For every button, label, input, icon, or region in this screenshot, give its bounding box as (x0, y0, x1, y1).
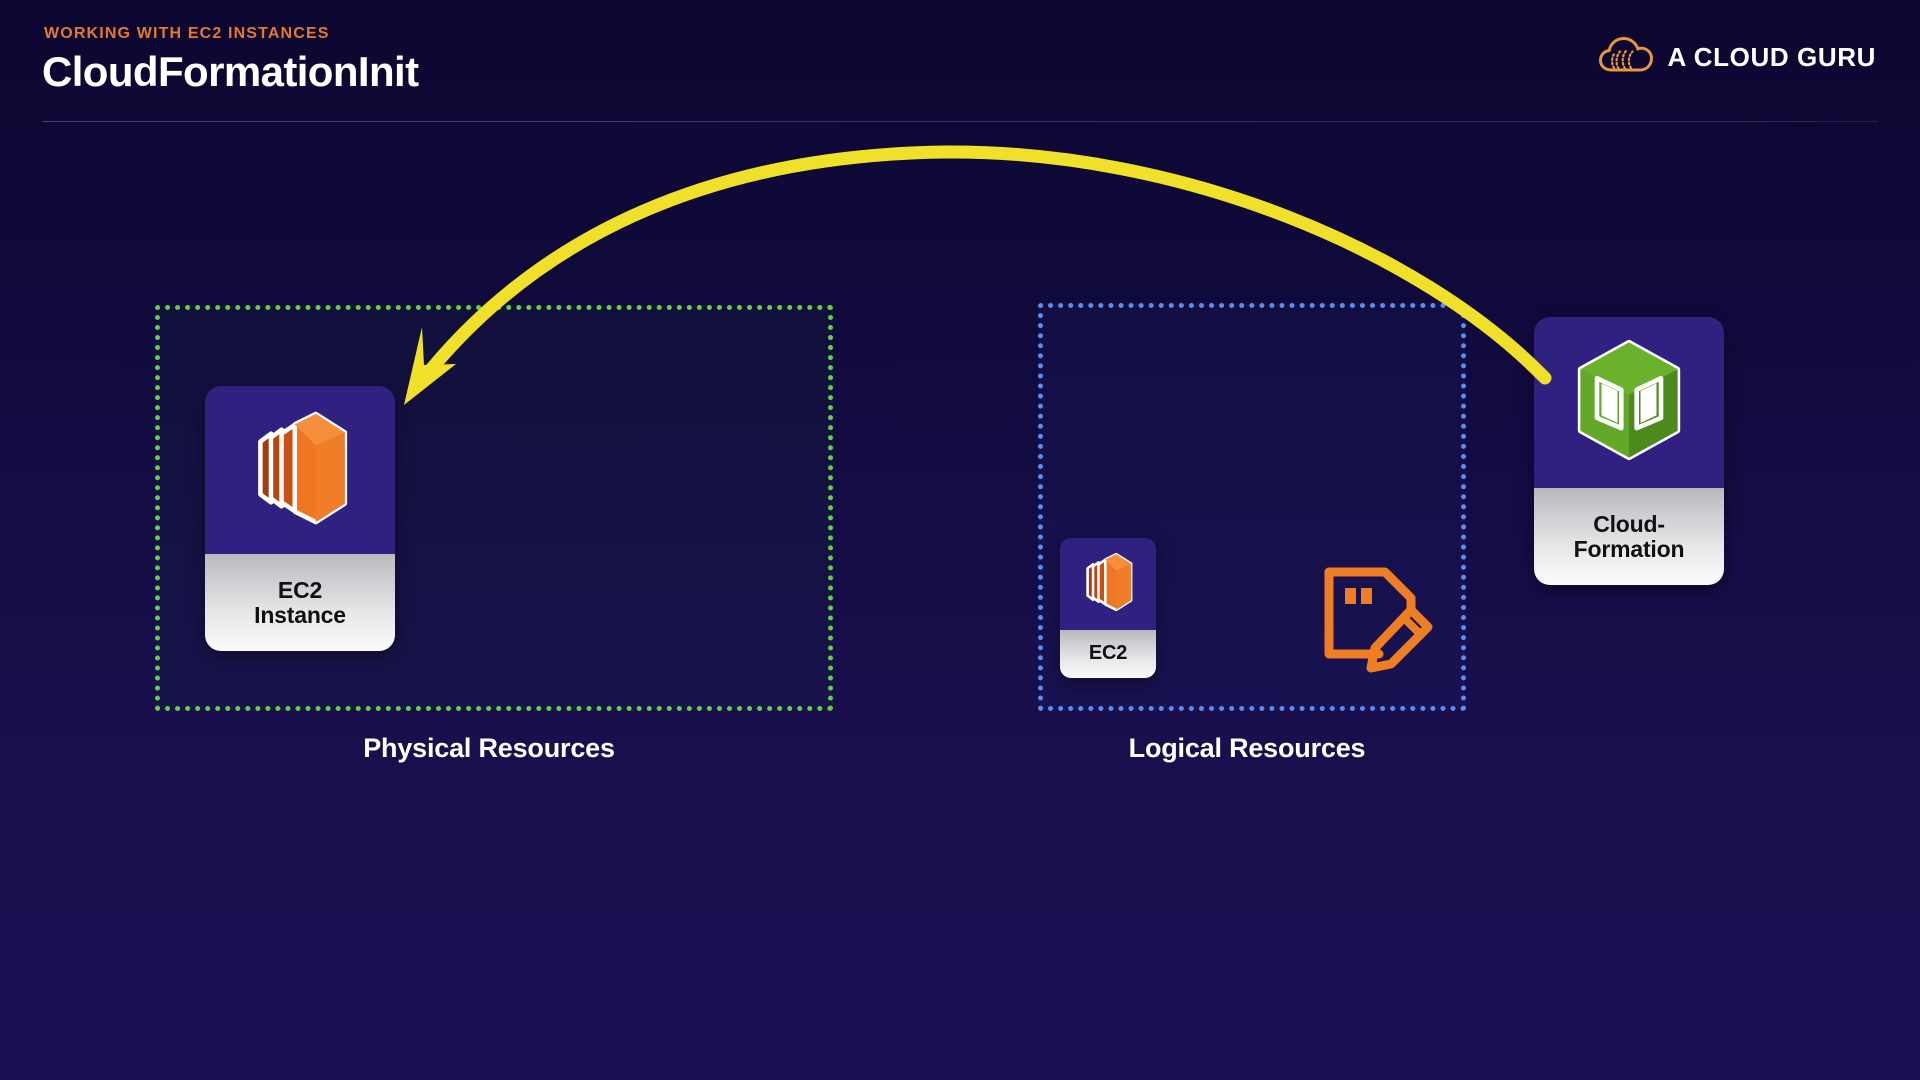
card-label-area: EC2 Instance (205, 554, 395, 651)
cloudformation-label-line2: Formation (1574, 536, 1685, 562)
header-eyebrow: WORKING WITH EC2 INSTANCES (44, 25, 330, 43)
aws-ec2-icon (234, 402, 366, 539)
card-icon-area (1060, 538, 1156, 630)
slide-canvas: WORKING WITH EC2 INSTANCES CloudFormatio… (0, 0, 1920, 1080)
header-divider (42, 121, 1878, 122)
cloudformation-label-line1: Cloud- (1593, 511, 1665, 537)
card-icon-area (1534, 317, 1724, 488)
card-icon-area (205, 386, 395, 554)
document-edit-icon (1315, 558, 1435, 673)
ec2-instance-card[interactable]: EC2 Instance (205, 386, 395, 651)
card-label-area: Cloud- Formation (1534, 488, 1724, 585)
aws-ec2-icon (1074, 548, 1142, 621)
card-label-area: EC2 (1060, 630, 1156, 678)
logical-resources-label: Logical Resources (1038, 733, 1456, 764)
ec2-logical-label: EC2 (1089, 643, 1127, 665)
cloudformation-card[interactable]: Cloud- Formation (1534, 317, 1724, 585)
brand-name: A CLOUD GURU (1668, 42, 1876, 73)
ec2-instance-label-line1: EC2 (278, 577, 322, 603)
ec2-logical-card[interactable]: EC2 (1060, 538, 1156, 678)
cloud-icon (1598, 36, 1654, 79)
brand-logo: A CLOUD GURU (1598, 36, 1876, 79)
ec2-instance-label-line2: Instance (254, 602, 346, 628)
aws-cloudformation-icon (1565, 336, 1693, 469)
physical-resources-label: Physical Resources (155, 733, 823, 764)
page-title: CloudFormationInit (42, 48, 418, 96)
